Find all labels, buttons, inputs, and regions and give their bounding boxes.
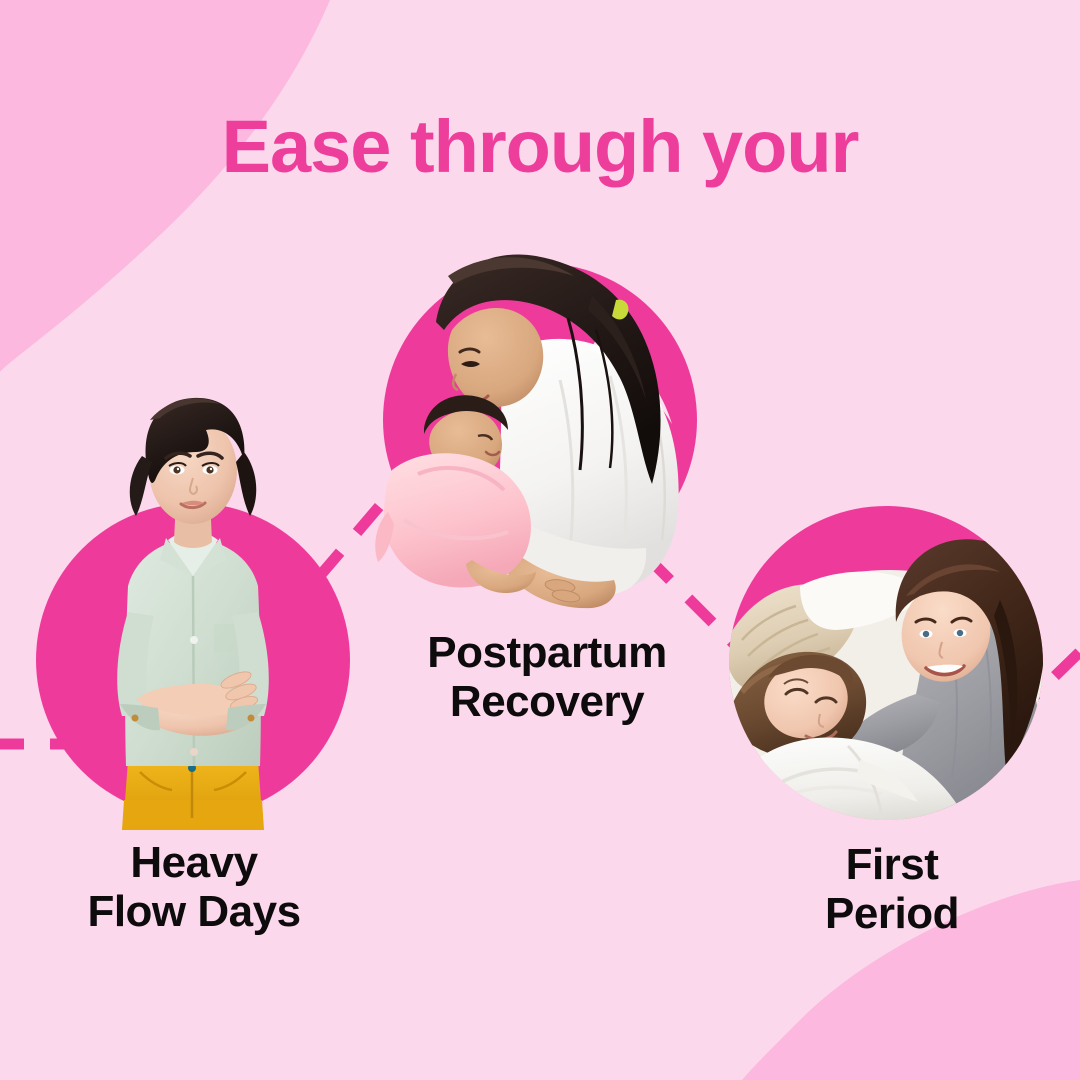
illustration-woman-arms-crossed [117,398,269,830]
page-title: Ease through your [0,104,1080,189]
photo-circle-first-period [729,506,1046,842]
label-first-period: First Period [742,840,1042,939]
label-postpartum-recovery: Postpartum Recovery [382,628,712,727]
photo-circle-heavy-flow-days [36,398,350,830]
photo-circle-postpartum-recovery [375,254,697,608]
poster-canvas: Ease through your Heavy Flow Days Postpa… [0,0,1080,1080]
label-heavy-flow-days: Heavy Flow Days [34,838,354,937]
